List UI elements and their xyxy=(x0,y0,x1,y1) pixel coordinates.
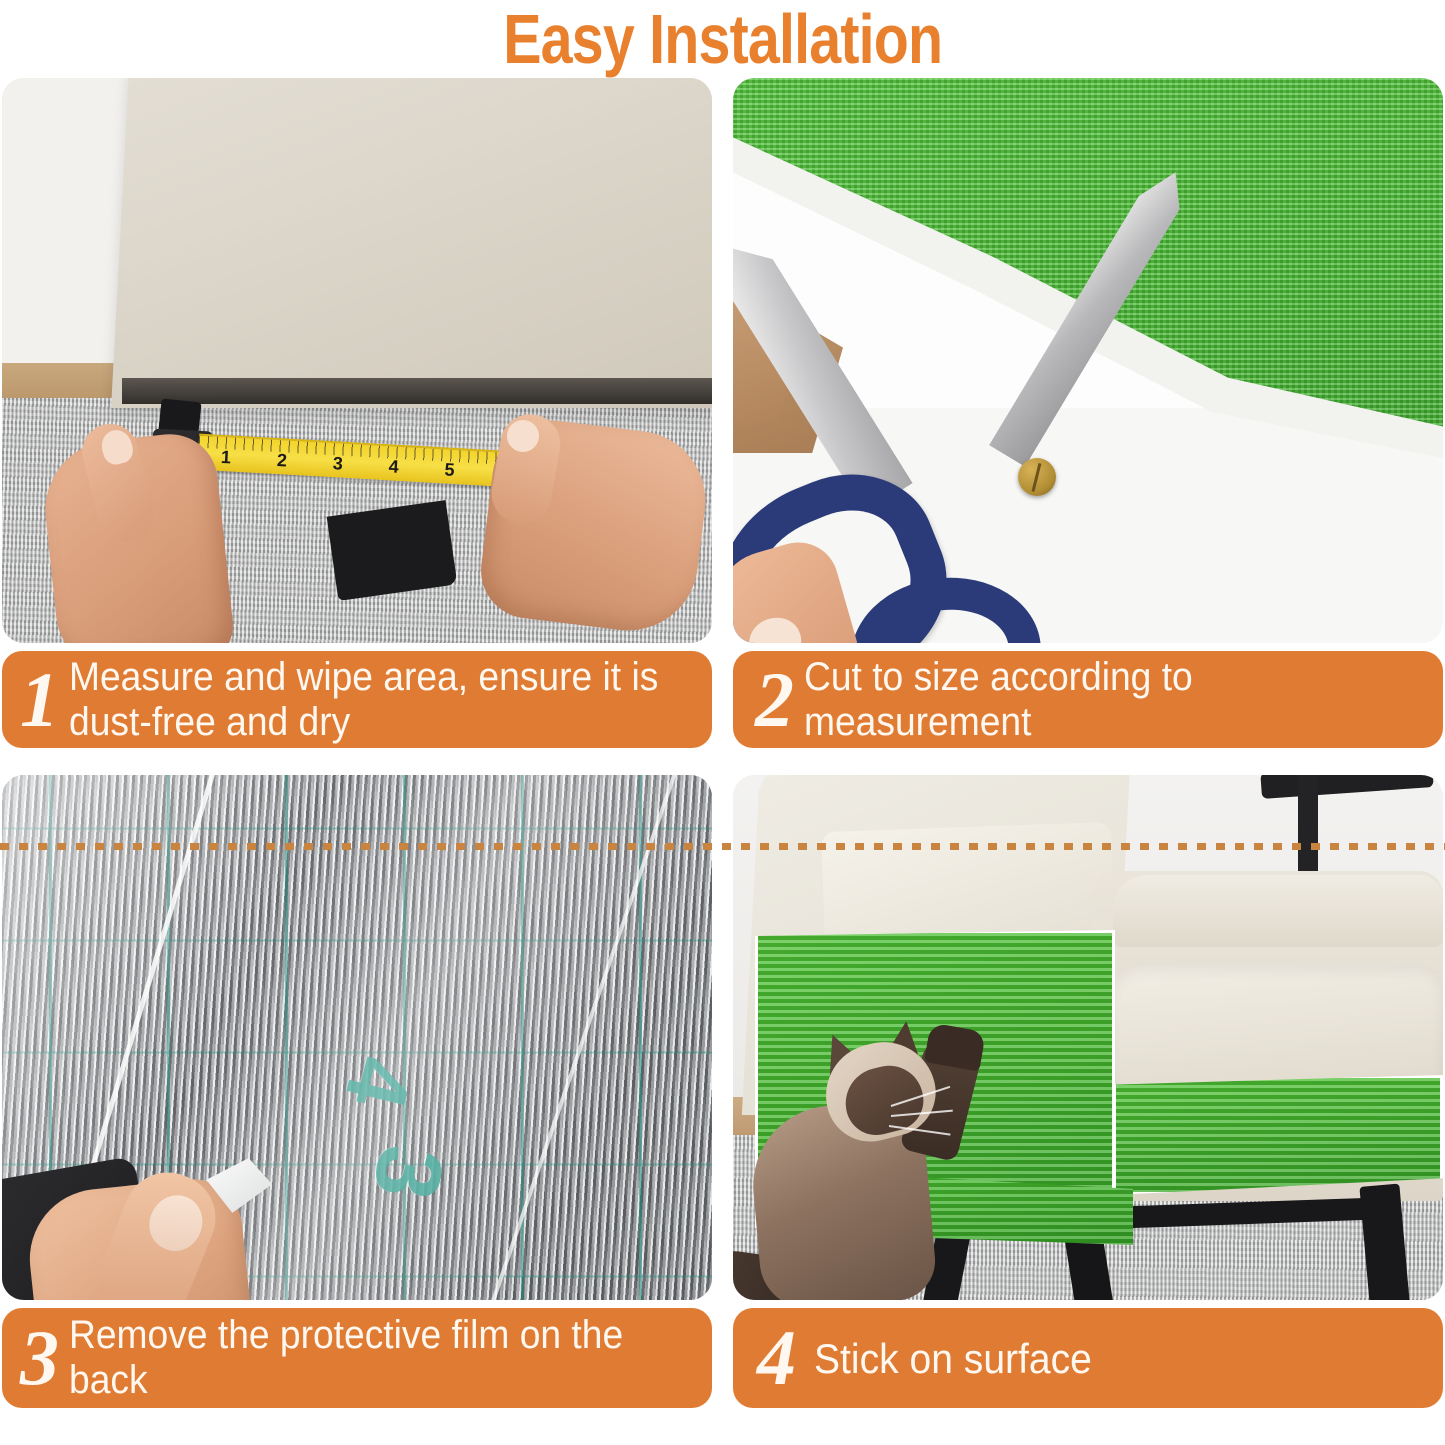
step-1-photo: 1 2 3 4 5 6 xyxy=(2,78,712,643)
scissor-pivot-screw xyxy=(1018,458,1056,496)
step-1-number: 1 xyxy=(2,661,69,739)
cutting-mat-illustration xyxy=(733,78,1443,643)
peeling-film-illustration: 4 3 2 0 xyxy=(2,775,712,1300)
step-1-caption-banner: 1 Measure and wipe area, ensure it is du… xyxy=(2,651,712,748)
sofa-skirt xyxy=(111,78,712,408)
sofa-leg-right xyxy=(327,500,458,601)
step-card-4: 4 Stick on surface xyxy=(733,775,1443,1445)
step-3-caption-text: Remove the protective film on the back xyxy=(69,1313,667,1403)
throw-pillow xyxy=(821,822,1115,942)
tape-mark: 4 xyxy=(388,456,399,478)
sofa-underside-shadow xyxy=(122,378,712,404)
tape-mark: 5 xyxy=(444,459,455,481)
tape-mark: 1 xyxy=(220,446,231,468)
step-2-caption-banner: 2 Cut to size according to measurement xyxy=(733,651,1443,748)
wall xyxy=(2,78,132,378)
step-card-1: 1 2 3 4 5 6 xyxy=(2,78,712,748)
tape-mark: 3 xyxy=(332,453,343,475)
cat-scratching-chair-illustration xyxy=(733,775,1443,1300)
step-4-photo xyxy=(733,775,1443,1300)
page-title: Easy Installation xyxy=(503,4,942,74)
armchair-armrest xyxy=(1113,875,1443,947)
tape-mark: 2 xyxy=(276,450,287,472)
row-divider xyxy=(0,843,1445,850)
step-card-2: 2 Cut to size according to measurement xyxy=(733,78,1443,748)
step-2-photo xyxy=(733,78,1443,643)
step-1-caption-text: Measure and wipe area, ensure it is dust… xyxy=(69,655,667,745)
green-mat-front-panel xyxy=(1113,1075,1443,1195)
step-3-caption-banner: 3 Remove the protective film on the back xyxy=(2,1308,712,1408)
step-4-caption-text: Stick on surface xyxy=(814,1336,1399,1381)
step-4-number: 4 xyxy=(733,1319,814,1397)
installation-infographic: Easy Installation 1 xyxy=(0,0,1445,1445)
step-card-3: 4 3 2 0 3 Remove the protective film on … xyxy=(2,775,712,1445)
title-bar: Easy Installation xyxy=(0,0,1445,78)
step-3-number: 3 xyxy=(2,1319,69,1397)
step-2-number: 2 xyxy=(733,661,804,739)
step-4-caption-banner: 4 Stick on surface xyxy=(733,1308,1443,1408)
step-2-caption-text: Cut to size according to measurement xyxy=(804,655,1398,745)
steps-grid: 1 2 3 4 5 6 xyxy=(0,78,1445,1445)
step-3-photo: 4 3 2 0 xyxy=(2,775,712,1300)
measuring-sofa-illustration: 1 2 3 4 5 6 xyxy=(2,78,712,643)
